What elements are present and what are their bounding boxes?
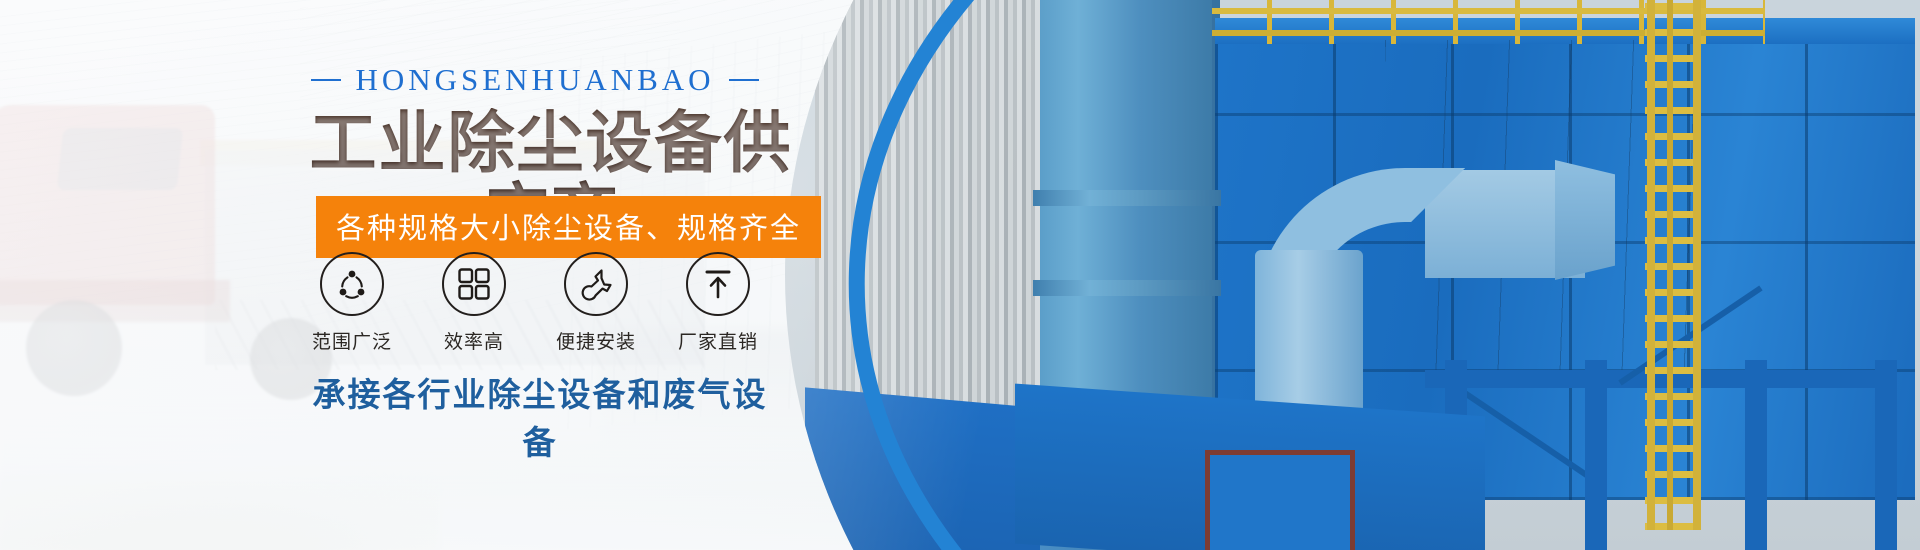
grid-four-squares-icon	[457, 267, 491, 301]
feature-icon-circle	[442, 252, 506, 316]
feature-item-direct-sales[interactable]: 厂家直销	[666, 252, 770, 354]
brand-eyebrow: HONGSENHUANBAO	[300, 62, 770, 98]
banner-content: HONGSENHUANBAO 工业除尘设备供应商 各种规格大小除尘设备、规格齐全	[0, 0, 900, 550]
subtitle-orange-bar: 各种规格大小除尘设备、规格齐全	[316, 196, 821, 258]
network-nodes-icon	[333, 265, 371, 303]
photo-light-shade	[785, 0, 1920, 550]
arrow-up-to-line-icon	[701, 267, 735, 301]
tagline: 承接各行业除尘设备和废气设备	[300, 368, 780, 464]
feature-list: 范围广泛 效率高	[300, 252, 770, 354]
feature-label: 便捷安装	[544, 327, 648, 354]
feature-item-efficiency[interactable]: 效率高	[422, 252, 526, 354]
brand-name: HONGSENHUANBAO	[355, 62, 714, 98]
eyebrow-dash-right	[729, 79, 759, 81]
feature-icon-circle	[564, 252, 628, 316]
feature-item-installation[interactable]: 便捷安装	[544, 252, 648, 354]
feature-icon-circle	[686, 252, 750, 316]
feature-icon-circle	[320, 252, 384, 316]
feature-item-range[interactable]: 范围广泛	[300, 252, 404, 354]
hero-banner: HONGSENHUANBAO 工业除尘设备供应商 各种规格大小除尘设备、规格齐全	[0, 0, 1920, 550]
wrench-icon	[577, 265, 615, 303]
dust-collector-photo	[785, 0, 1920, 550]
feature-label: 厂家直销	[666, 327, 770, 354]
eyebrow-dash-left	[311, 79, 341, 81]
feature-label: 范围广泛	[300, 327, 404, 354]
feature-label: 效率高	[422, 327, 526, 354]
